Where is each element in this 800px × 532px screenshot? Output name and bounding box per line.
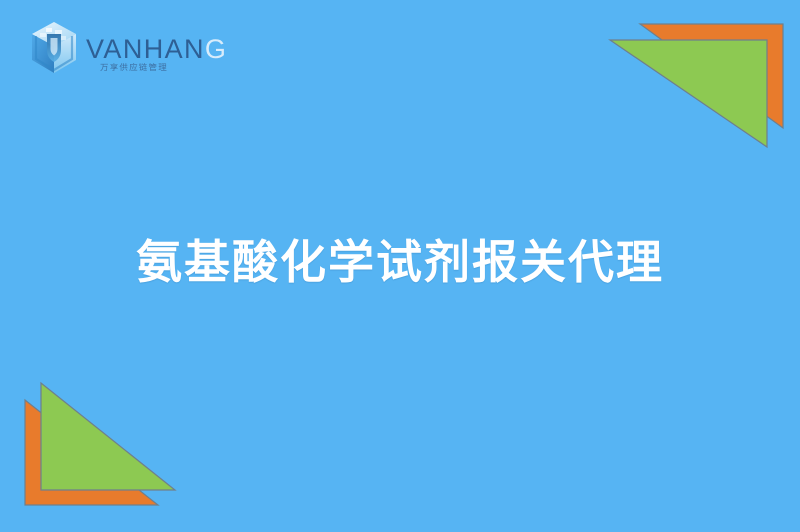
logo-chinese-subtitle: 万享供应链管理 [100, 63, 168, 71]
green-triangle-icon [610, 40, 767, 147]
hexagon-cube-logo-icon [28, 20, 80, 76]
logo-latin-tail: G [205, 34, 227, 64]
company-logo: VANHANG 万享供应链管理 [28, 20, 227, 76]
logo-latin-lead: VANHAN [86, 34, 205, 64]
logo-wordmark: VANHANG 万享供应链管理 [86, 24, 227, 72]
orange-triangle-icon [640, 24, 783, 128]
decoration-triangles-top-right [600, 0, 800, 170]
green-triangle-icon [41, 383, 175, 490]
logo-latin-text: VANHANG [86, 36, 227, 63]
promo-banner: VANHANG 万享供应链管理 氨基酸化学试剂报关代理 [0, 0, 800, 532]
orange-triangle-icon [25, 400, 158, 505]
page-title: 氨基酸化学试剂报关代理 [0, 236, 800, 289]
decoration-triangles-bottom-left [0, 367, 200, 532]
